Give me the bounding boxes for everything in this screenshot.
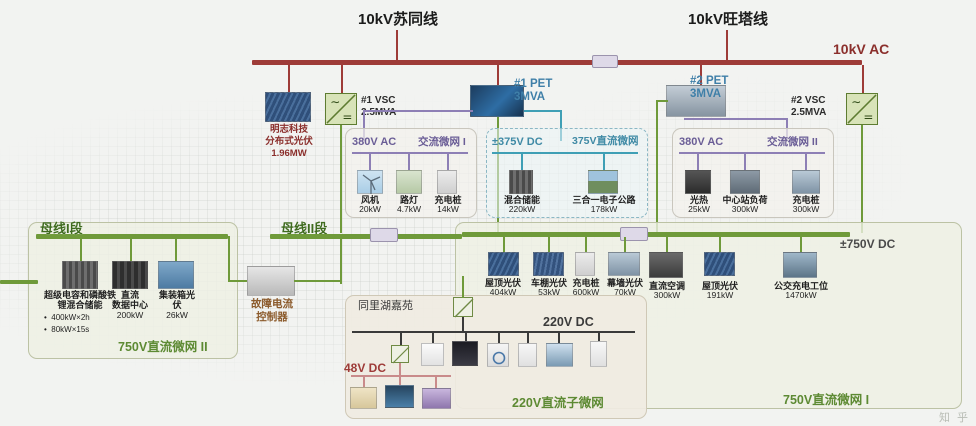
iron-icon <box>421 343 444 366</box>
dc750-1-drop-3 <box>585 237 587 253</box>
feeder-right-drop <box>726 30 728 62</box>
ev-charger-icon-ac1 <box>437 170 457 194</box>
dc750-1-drop-2 <box>548 237 550 253</box>
bullet-2-text: 80kW×15s <box>51 325 89 334</box>
washing-machine-icon <box>487 343 509 367</box>
ac1-device-1-capacity: 20kW <box>350 205 390 215</box>
dc750-1-drop-6 <box>719 237 721 253</box>
pet1-label: #1 PET <box>514 78 552 91</box>
wind-turbine-icon <box>357 170 383 194</box>
pet1-to-dc375-link <box>524 110 562 112</box>
distributed-pv-capacity: 1.96MW <box>258 148 320 160</box>
ac2-device-1: 光热 25kW <box>679 195 719 215</box>
dc375-drop-1 <box>521 153 523 171</box>
dc750-2-footer: 750V直流微网 II <box>118 340 208 354</box>
ac1-drop-1 <box>369 153 371 171</box>
dc220-site-label: 同里湖嘉苑 <box>358 300 413 312</box>
vsc2-riser <box>862 65 864 94</box>
dc750-2-tie-riser <box>228 236 230 282</box>
tv-icon <box>452 341 478 366</box>
dc375-device-2: 三合一电子公路 178kW <box>568 195 640 215</box>
dc750-2-device-3-line1: 集装箱光 <box>155 290 199 300</box>
fault-controller-line1: 故障电流 <box>243 298 301 311</box>
ac1-device-3-capacity: 14kW <box>427 205 469 215</box>
vsc2-label: #2 VSC <box>791 95 825 106</box>
pet2-rating: 3MVA <box>690 88 721 101</box>
dc750-1-device-6: 屋顶光伏 191kW <box>694 281 746 301</box>
dc750-1-device-5-capacity: 300kW <box>641 291 693 301</box>
ac-bus-voltage-label: 10kV AC <box>833 42 889 58</box>
ac2-drop-3 <box>805 153 807 171</box>
distributed-pv-line1: 明志科技 <box>258 124 320 136</box>
ac1-device-1: 风机 20kW <box>350 195 390 215</box>
pet2-to-ac2-link <box>684 118 788 120</box>
dc375-bus <box>492 152 638 154</box>
ac1-name-label: 交流微网 I <box>418 137 466 149</box>
dc750-1-voltage-label: ±750V DC <box>840 238 895 251</box>
dc-symbol-icon: = <box>342 110 352 124</box>
dc750-1-drop-4 <box>624 237 626 253</box>
bus-segment-1-label: 母线I段 <box>40 222 83 237</box>
pet1-to-ac1-link <box>363 110 473 112</box>
ac2-drop-2 <box>744 153 746 171</box>
ac2-voltage-label: 380V AC <box>679 136 723 148</box>
dc48-converter-slash-icon <box>392 346 410 364</box>
facade-pv-icon <box>608 252 640 276</box>
dc48-drop-3 <box>435 376 437 388</box>
ac1-device-2: 路灯 4.7kW <box>389 195 429 215</box>
power-system-diagram: 10kV苏同线 10kV旺塔线 10kV AC 明志科技 分布式光伏 1.96M… <box>0 0 976 426</box>
ac-dc-converter-icon[interactable]: ∼ = <box>325 93 357 125</box>
container-pv-icon <box>158 261 194 289</box>
dc375-voltage-label: ±375V DC <box>492 136 543 148</box>
dc-air-conditioner-icon <box>649 252 683 278</box>
dc220-feed-riser <box>462 276 464 298</box>
ac2-device-2: 中心站负荷 300kW <box>716 195 774 215</box>
vsc2-rating: 2.5MVA <box>791 107 826 118</box>
laptop-icon <box>422 388 451 409</box>
bullet-2: • 80kW×15s <box>44 324 128 336</box>
dc750-1-drop-1 <box>503 237 505 253</box>
feeder-left-label: 10kV苏同线 <box>358 12 438 29</box>
ac2-symbol-icon: ∼ <box>851 95 861 109</box>
ac2-bus <box>679 152 825 154</box>
electric-road-icon <box>588 170 618 194</box>
vsc1-rating: 2.5MVA <box>361 107 396 118</box>
feeder-right-label: 10kV旺塔线 <box>688 12 768 29</box>
ac-bus-switch[interactable] <box>592 55 618 68</box>
seg2-to-fault-riser <box>340 234 342 284</box>
vsc2-dc-riser <box>861 125 863 233</box>
dc48-converter-icon[interactable] <box>391 345 409 363</box>
dc750-1-device-7-capacity: 1470kW <box>766 291 836 301</box>
dc750-2-device-2-line1: 直流 <box>108 290 152 300</box>
dc-bus-segment-2 <box>270 234 462 239</box>
ev-charger-icon-dc750 <box>575 252 595 276</box>
bullet-1-text: 400kW×2h <box>51 313 89 322</box>
distributed-pv-line2: 分布式光伏 <box>258 136 320 148</box>
ev-charger-icon-ac2 <box>792 170 820 194</box>
pet2-dc-tap <box>656 100 668 102</box>
pet2-label: #2 PET <box>690 75 728 88</box>
ac1-drop-3 <box>447 153 449 171</box>
dc220-converter-drop <box>462 317 464 331</box>
dc750-1-drop-7 <box>800 237 802 253</box>
ac1-device-3: 充电桩 14kW <box>427 195 469 215</box>
bus-charging-icon <box>783 252 817 278</box>
ac2-device-2-capacity: 300kW <box>716 205 774 215</box>
dc2-symbol-icon: = <box>863 110 873 124</box>
pet1-riser <box>497 65 499 87</box>
ev-car-icon <box>546 343 573 367</box>
watermark-text: 知 乎 <box>939 409 970 425</box>
ac2-drop-1 <box>697 153 699 171</box>
fault-controller-right-link <box>294 280 340 282</box>
dc48-voltage-label: 48V DC <box>344 362 386 375</box>
vsc1-riser <box>341 65 343 94</box>
fault-controller-line2: 控制器 <box>243 311 301 324</box>
ac-symbol-icon: ∼ <box>330 95 340 109</box>
dc750-2-device-3-capacity: 26kW <box>155 311 199 321</box>
distributed-pv-photo <box>265 92 311 122</box>
dc750-1-drop-5 <box>666 237 668 253</box>
carport-pv-icon <box>533 252 564 276</box>
dc48-converter-drop <box>399 363 401 375</box>
dc220-converter-icon[interactable] <box>453 297 473 317</box>
dc-bus-segment-2-switch[interactable] <box>370 228 398 242</box>
pet2-dc-riser <box>656 100 658 233</box>
ac-dc-converter-2-icon[interactable]: ∼ = <box>846 93 878 125</box>
pv-source-riser <box>288 65 290 93</box>
dc375-drop-2 <box>603 153 605 171</box>
hybrid-storage-icon-2 <box>62 261 98 289</box>
ac1-drop-2 <box>408 153 410 171</box>
dc-tie-left-stub <box>0 280 38 284</box>
dc750-2-device-2-capacity: 200kW <box>108 311 152 321</box>
dc375-device-2-capacity: 178kW <box>568 205 640 215</box>
solar-thermal-icon <box>685 170 711 194</box>
rooftop-pv-icon-2 <box>704 252 735 276</box>
hybrid-storage-icon <box>509 170 533 194</box>
ac2-device-1-capacity: 25kW <box>679 205 719 215</box>
pet1-rating: 3MVA <box>514 91 545 104</box>
distributed-pv-label: 明志科技 分布式光伏 1.96MW <box>258 124 320 160</box>
fault-controller-label: 故障电流 控制器 <box>243 298 301 324</box>
dc750-1-device-6-capacity: 191kW <box>694 291 746 301</box>
monitor-icon <box>385 385 414 408</box>
dc220-voltage-label: 220V DC <box>543 315 594 329</box>
data-center-icon <box>112 261 148 289</box>
dc220-converter-slash-icon <box>454 298 474 318</box>
dc750-2-device-3: 集装箱光 伏 26kW <box>155 290 199 320</box>
dc750-1-device-7: 公交充电工位 1470kW <box>766 281 836 301</box>
dc375-device-1-capacity: 220kW <box>496 205 548 215</box>
ac2-device-3-capacity: 300kW <box>785 205 827 215</box>
fault-current-controller-icon[interactable] <box>247 266 295 296</box>
feeder-left-drop <box>396 30 398 62</box>
ac2-device-3: 充电桩 300kW <box>785 195 827 215</box>
dc750-2-device-2: 直流 数据中心 200kW <box>108 290 152 320</box>
dc375-name-label: 375V直流微网 <box>572 136 639 148</box>
rooftop-pv-icon-1 <box>488 252 519 276</box>
dc750-1-footer: 750V直流微网 I <box>783 393 869 407</box>
dc750-1-device-5: 直流空调 300kW <box>641 281 693 301</box>
dc750-1-bus <box>462 232 850 237</box>
vsc1-label: #1 VSC <box>361 95 395 106</box>
dc375-device-1: 混合储能 220kW <box>496 195 548 215</box>
washer-drum-glyph <box>488 344 510 368</box>
ac2-name-label: 交流微网 II <box>767 137 818 149</box>
street-lamp-icon <box>396 170 422 194</box>
vsc1-dc-riser <box>340 125 342 233</box>
desk-lamp-icon <box>350 387 377 409</box>
appliance-icon <box>518 343 537 367</box>
refrigerator-icon <box>590 341 607 367</box>
ac1-voltage-label: 380V AC <box>352 136 396 148</box>
dc48-riser <box>400 332 402 346</box>
ac-bus-10kv <box>252 60 862 65</box>
ac1-device-2-capacity: 4.7kW <box>389 205 429 215</box>
central-station-load-icon <box>730 170 760 194</box>
dc220-footer: 220V直流子微网 <box>512 396 604 410</box>
wind-turbine-glyph <box>358 171 384 195</box>
dc220-bus <box>352 331 635 333</box>
